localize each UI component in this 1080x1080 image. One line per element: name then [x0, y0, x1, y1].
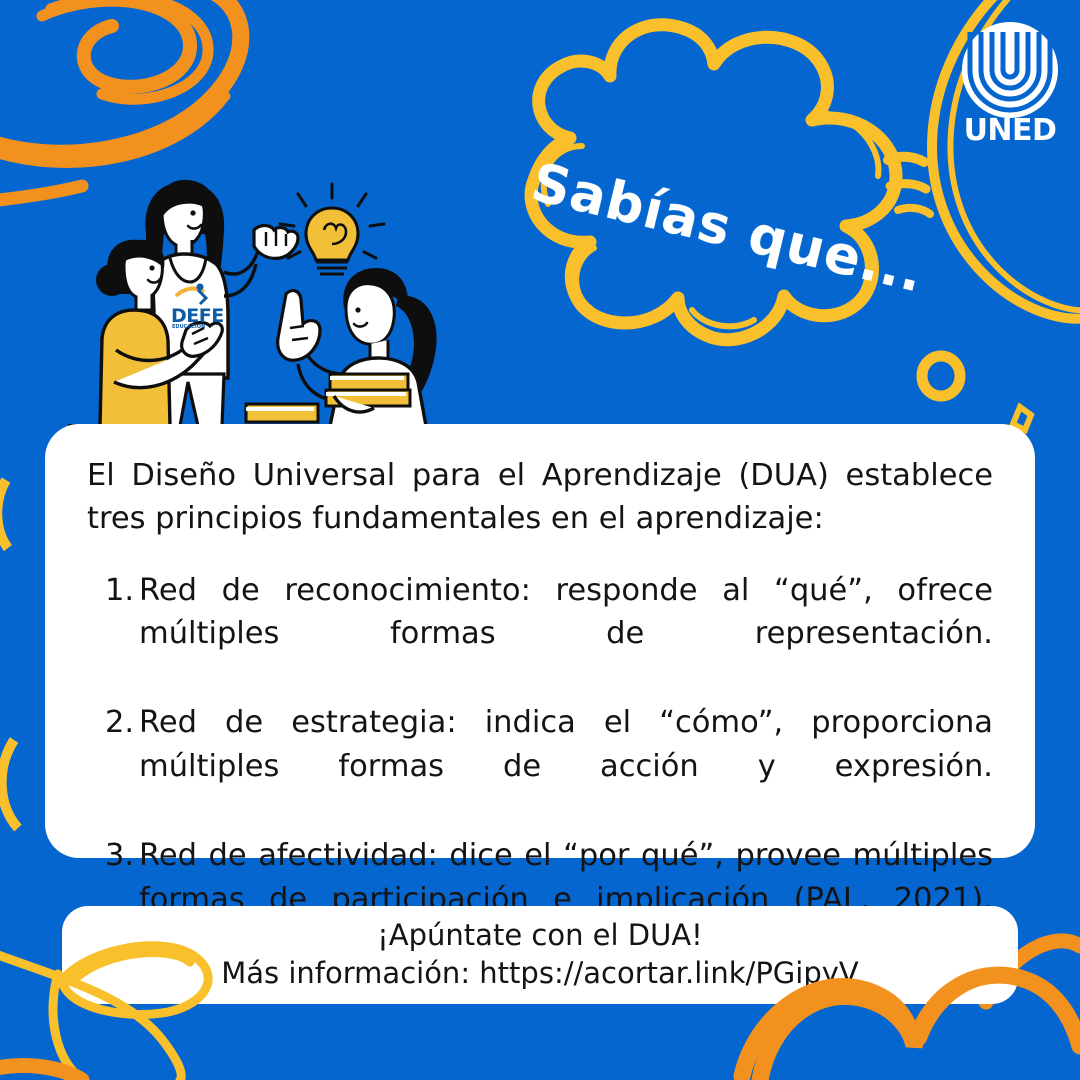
person-icon	[278, 268, 437, 426]
footer-card: ¡Apúntate con el DUA! Más información: h…	[62, 906, 1018, 1004]
list-item: 2. Red de estrategia: indica el “cómo”, …	[87, 701, 993, 831]
list-item: 1. Red de reconocimiento: responde al “q…	[87, 569, 993, 699]
yellow-partial-ring-left-2	[2, 740, 18, 828]
lightbulb-icon	[280, 184, 384, 274]
list-item-text: Red de reconocimiento: responde al “qué”…	[139, 569, 993, 699]
list-item-number: 3.	[105, 834, 139, 877]
list-item-number: 1.	[105, 569, 139, 612]
yellow-ring-right	[922, 356, 960, 396]
uned-logo: UNED	[952, 18, 1080, 146]
book-stack-icon	[246, 404, 318, 422]
main-content-card: El Diseño Universal para el Aprendizaje …	[45, 424, 1035, 858]
footer-url-line[interactable]: Más información: https://acortar.link/PG…	[221, 955, 859, 993]
defe-logo-subtext: EDUCACIÓN	[172, 324, 205, 330]
uned-logo-text: UNED	[964, 113, 1057, 146]
three-students-illustration	[58, 168, 478, 430]
intro-paragraph: El Diseño Universal para el Aprendizaje …	[87, 454, 993, 541]
poster-canvas: UNED	[0, 0, 1080, 1080]
yellow-partial-ring-left	[0, 480, 8, 548]
footer-call-to-action: ¡Apúntate con el DUA!	[377, 917, 703, 955]
principles-list: 1. Red de reconocimiento: responde al “q…	[87, 569, 993, 965]
list-item-number: 2.	[105, 701, 139, 744]
list-item-text: Red de estrategia: indica el “cómo”, pro…	[139, 701, 993, 831]
